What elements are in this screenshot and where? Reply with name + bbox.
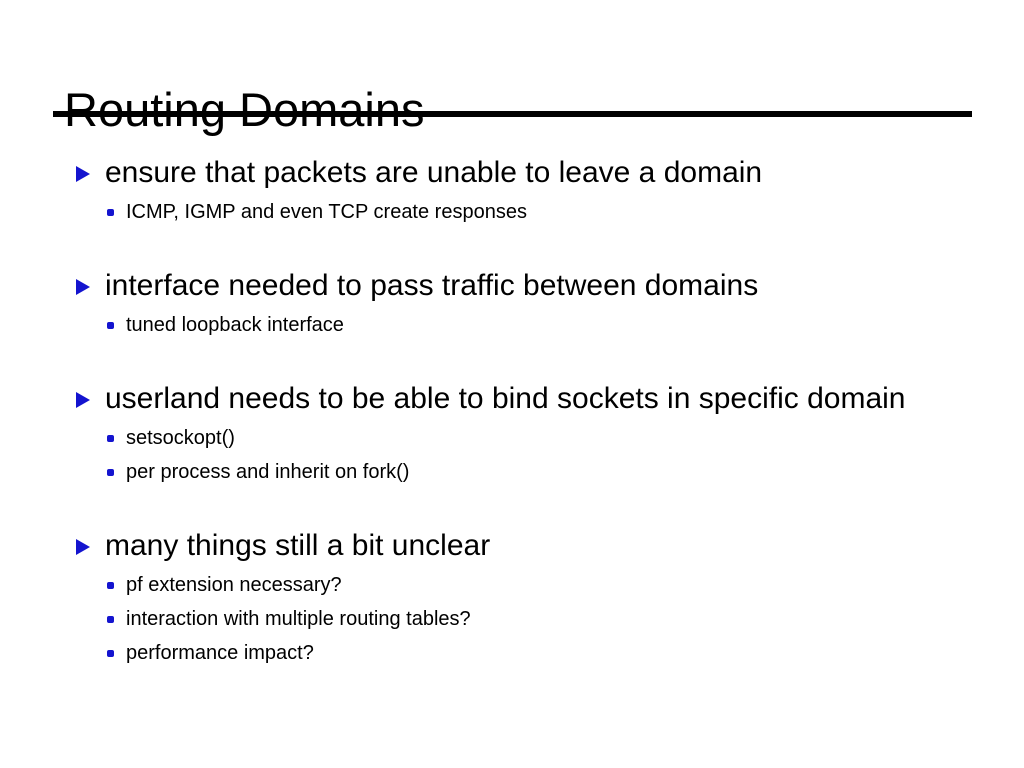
square-dot-icon [107,650,114,657]
presentation-slide: Routing Domains ensure that packets are … [0,0,1024,768]
bullet-level2: performance impact? [0,636,1024,670]
bullet-group: userland needs to be able to bind socket… [0,378,1024,489]
bullet-level1: interface needed to pass traffic between… [0,265,1024,306]
bullet-level2: pf extension necessary? [0,568,1024,602]
bullet-level2: tuned loopback interface [0,308,1024,342]
square-dot-icon [107,582,114,589]
bullet-level2: setsockopt() [0,421,1024,455]
triangle-right-icon [76,392,90,408]
square-dot-icon [107,469,114,476]
bullet-level2: interaction with multiple routing tables… [0,602,1024,636]
bullet-level1: ensure that packets are unable to leave … [0,152,1024,193]
bullet-level2-label: pf extension necessary? [126,568,1024,602]
bullet-level2-label: tuned loopback interface [126,308,1024,342]
bullet-level2-list: ICMP, IGMP and even TCP create responses [0,195,1024,229]
triangle-right-icon [76,539,90,555]
bullet-group: many things still a bit unclear pf exten… [0,525,1024,670]
bullet-level2-label: setsockopt() [126,421,1024,455]
bullet-level1: many things still a bit unclear [0,525,1024,566]
bullet-level2: per process and inherit on fork() [0,455,1024,489]
bullet-level1-label: interface needed to pass traffic between… [105,265,925,306]
bullet-group: ensure that packets are unable to leave … [0,152,1024,229]
bullet-level2-list: tuned loopback interface [0,308,1024,342]
triangle-right-icon [76,166,90,182]
bullet-level1-label: many things still a bit unclear [105,525,925,566]
square-dot-icon [107,616,114,623]
square-dot-icon [107,322,114,329]
bullet-level2: ICMP, IGMP and even TCP create responses [0,195,1024,229]
bullet-level2-label: performance impact? [126,636,1024,670]
triangle-right-icon [76,279,90,295]
bullet-level1-label: ensure that packets are unable to leave … [105,152,925,193]
page-title: Routing Domains [64,82,425,137]
bullet-level1-label: userland needs to be able to bind socket… [105,378,925,419]
bullet-level1: userland needs to be able to bind socket… [0,378,1024,419]
square-dot-icon [107,435,114,442]
slide-body: ensure that packets are unable to leave … [0,152,1024,670]
square-dot-icon [107,209,114,216]
bullet-level2-label: ICMP, IGMP and even TCP create responses [126,195,1024,229]
bullet-level2-list: pf extension necessary? interaction with… [0,568,1024,670]
bullet-level2-label: per process and inherit on fork() [126,455,1024,489]
bullet-level2-list: setsockopt() per process and inherit on … [0,421,1024,489]
bullet-level2-label: interaction with multiple routing tables… [126,602,1024,636]
bullet-group: interface needed to pass traffic between… [0,265,1024,342]
title-divider [53,111,972,117]
